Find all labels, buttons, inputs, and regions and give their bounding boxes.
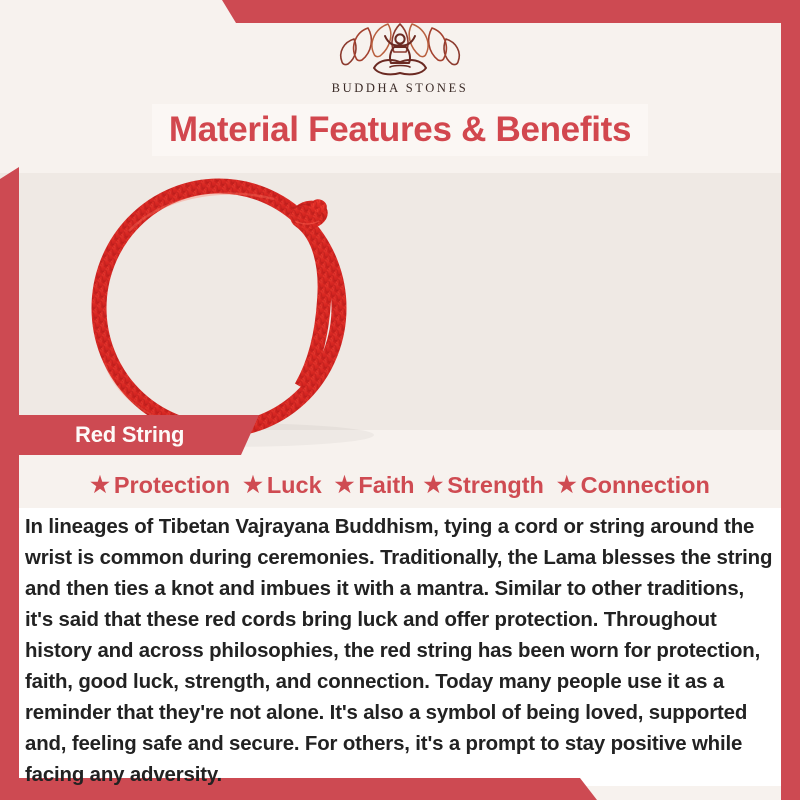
page-title: Material Features & Benefits: [169, 110, 631, 150]
benefit-item-faith: ★ Faith: [335, 472, 415, 499]
benefit-item-strength: ★ Strength: [424, 472, 544, 499]
benefit-label: Protection: [114, 472, 230, 499]
product-name-ribbon: Red String: [19, 415, 259, 455]
bracelet-knot: [287, 197, 331, 233]
star-icon: ★: [90, 474, 110, 496]
brand-logo: BUDDHA STONES: [0, 22, 800, 102]
star-icon: ★: [424, 474, 444, 496]
product-name-label: Red String: [19, 422, 184, 448]
benefit-item-connection: ★ Connection: [557, 472, 710, 499]
benefits-list: ★ Protection ★ Luck ★ Faith ★ Strength ★…: [19, 468, 781, 502]
benefit-label: Strength: [447, 472, 544, 499]
description-paragraph: In lineages of Tibetan Vajrayana Buddhis…: [25, 512, 775, 791]
page-title-banner: Material Features & Benefits: [152, 104, 648, 156]
infographic-page: BUDDHA STONES Material Features & Benefi…: [0, 0, 800, 800]
benefit-label: Connection: [581, 472, 710, 499]
benefit-item-luck: ★ Luck: [243, 472, 322, 499]
decorative-red-left-bar: [0, 167, 19, 787]
benefit-label: Luck: [267, 472, 322, 499]
star-icon: ★: [335, 474, 355, 496]
lotus-meditation-figure-icon: [334, 22, 466, 80]
decorative-red-right-bar: [781, 0, 800, 800]
benefit-item-protection: ★ Protection: [90, 472, 230, 499]
benefit-label: Faith: [358, 472, 414, 499]
brand-wordmark: BUDDHA STONES: [332, 81, 469, 96]
star-icon: ★: [243, 474, 263, 496]
star-icon: ★: [557, 474, 577, 496]
